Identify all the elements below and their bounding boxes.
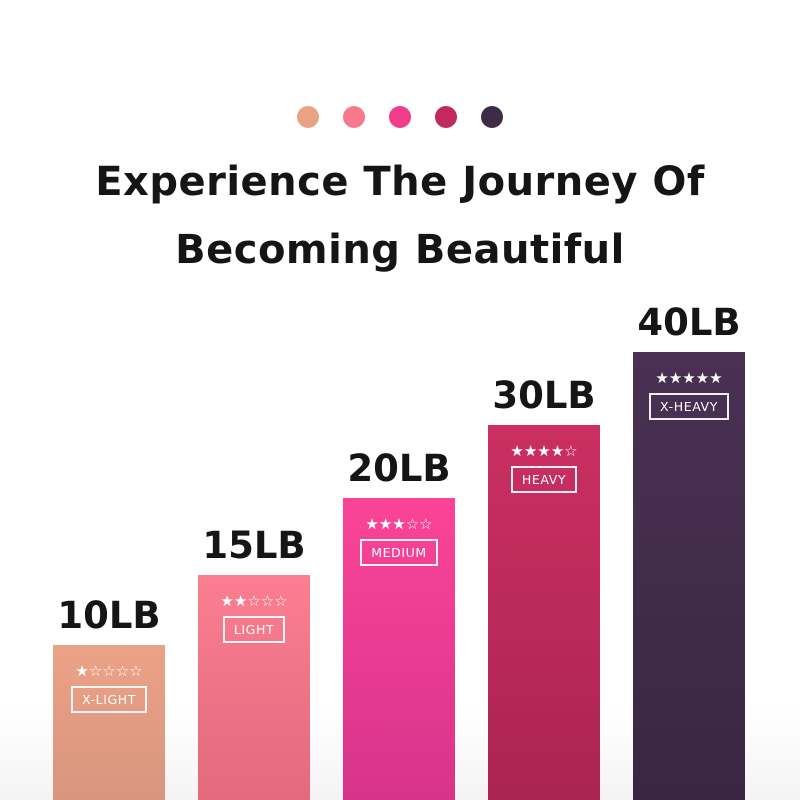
star-rating-icon: ★★☆☆☆ — [220, 593, 287, 609]
resistance-level-badge: X-HEAVY — [649, 393, 729, 420]
bar-badge-group: ★★★☆☆MEDIUM — [343, 516, 455, 566]
bar-badge-group: ★★☆☆☆LIGHT — [198, 593, 310, 643]
resistance-level-badge: LIGHT — [223, 616, 285, 643]
bar-weight-label: 10LB — [57, 596, 160, 636]
resistance-band-infographic: Experience The Journey Of Becoming Beaut… — [0, 0, 800, 800]
resistance-bar[interactable]: ★★★★☆HEAVY — [488, 425, 600, 800]
bar-column[interactable]: ★★★☆☆MEDIUM20LB — [343, 438, 455, 800]
star-rating-icon: ★★★★☆ — [510, 443, 577, 459]
star-rating-icon: ★★★☆☆ — [365, 516, 432, 532]
resistance-bar[interactable]: ★★☆☆☆LIGHT — [198, 575, 310, 800]
bar-badge-group: ★★★★☆HEAVY — [488, 443, 600, 493]
bar-badge-group: ★★★★★X-HEAVY — [633, 370, 745, 420]
resistance-bar[interactable]: ★☆☆☆☆X-LIGHT — [53, 645, 165, 800]
bar-weight-label: 20LB — [347, 449, 450, 489]
bar-column[interactable]: ★☆☆☆☆X-LIGHT10LB — [53, 585, 165, 800]
resistance-bar[interactable]: ★★★★★X-HEAVY — [633, 352, 745, 800]
bar-column[interactable]: ★★★★★X-HEAVY40LB — [633, 292, 745, 800]
bar-weight-label: 40LB — [637, 303, 740, 343]
bar-badge-group: ★☆☆☆☆X-LIGHT — [53, 663, 165, 713]
bar-weight-label: 15LB — [202, 526, 305, 566]
bar-weight-label: 30LB — [492, 376, 595, 416]
star-rating-icon: ★★★★★ — [655, 370, 722, 386]
resistance-level-badge: X-LIGHT — [71, 686, 147, 713]
resistance-level-badge: MEDIUM — [360, 539, 438, 566]
resistance-bar[interactable]: ★★★☆☆MEDIUM — [343, 498, 455, 800]
bar-column[interactable]: ★★★★☆HEAVY30LB — [488, 365, 600, 800]
star-rating-icon: ★☆☆☆☆ — [75, 663, 142, 679]
resistance-level-badge: HEAVY — [511, 466, 577, 493]
resistance-bar-chart: ★☆☆☆☆X-LIGHT10LB★★☆☆☆LIGHT15LB★★★☆☆MEDIU… — [0, 0, 800, 800]
bar-column[interactable]: ★★☆☆☆LIGHT15LB — [198, 515, 310, 800]
